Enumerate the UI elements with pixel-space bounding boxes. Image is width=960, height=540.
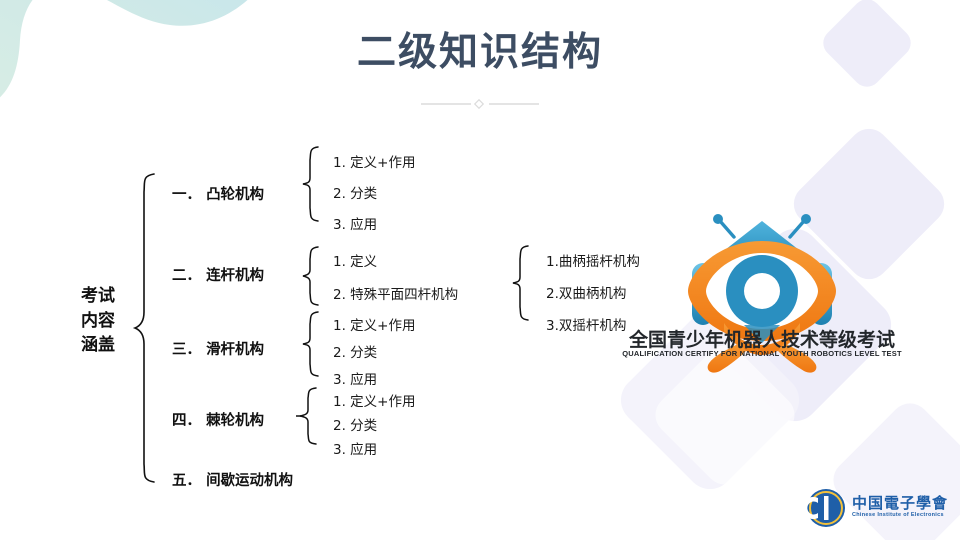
branch-1-label: 一． 凸轮机构 [172,183,264,204]
branch-3-label: 三． 滑杆机构 [172,338,264,359]
branch-4-child-1: 1. 定义+作用 [333,390,415,410]
page-title-container: 二级知识结构 [0,32,960,75]
branch-5-index: 五． [172,473,201,489]
root-line-1: 考试 [63,284,133,309]
root-node-label: 考试 内容 涵盖 [63,284,133,358]
branch-2-grandchildren-brace [510,244,532,322]
branch-4-label: 四． 棘轮机构 [172,409,264,430]
branch-3-child-3: 3. 应用 [333,368,415,388]
branch-3-brace [300,310,322,378]
branch-2-child-1: 1. 定义 [333,250,458,270]
branch-4-child-3: 3. 应用 [333,438,415,458]
root-line-2: 内容 [63,309,133,334]
top-left-blob-shape [0,0,270,180]
branch-3-children: 1. 定义+作用 2. 分类 3. 应用 [333,314,415,388]
cie-logo-name-cn: 中国電子學會 [852,492,948,513]
branch-5-title: 间歇运动机构 [206,473,293,489]
branch-1-brace [300,145,322,223]
root-line-3: 涵盖 [63,333,133,358]
cie-logo-name-en: Chinese Institute of Electronics [852,512,944,518]
branch-4-children: 1. 定义+作用 2. 分类 3. 应用 [333,390,415,458]
branch-4-brace [296,386,320,446]
branch-3-child-2: 2. 分类 [333,341,415,361]
branch-2-label: 二． 连杆机构 [172,264,264,285]
branch-1-child-1: 1. 定义+作用 [333,151,415,171]
robot-logo-title-en: QUALIFICATION CERTIFY FOR NATIONAL YOUTH… [612,349,912,358]
branch-1-children: 1. 定义+作用 2. 分类 3. 应用 [333,151,415,233]
root-brace [132,172,158,484]
branch-1-index: 一． [172,187,201,203]
branch-3-title: 滑杆机构 [206,342,264,358]
branch-2-index: 二． [172,268,201,284]
branch-4-title: 棘轮机构 [206,413,264,429]
branch-5-label: 五． 间歇运动机构 [172,469,293,490]
title-divider [421,98,539,110]
branch-3-index: 三． [172,342,201,358]
branch-2-brace [300,245,322,307]
branch-4-index: 四． [172,413,201,429]
branch-2-child-2: 2. 特殊平面四杆机构 [333,283,458,303]
slide-canvas: 二级知识结构 考试 内容 涵盖 一． 凸轮机构 1. 定义+作用 2. 分类 3… [0,0,960,540]
branch-3-child-1: 1. 定义+作用 [333,314,415,334]
branch-1-child-2: 2. 分类 [333,182,415,202]
branch-2-children: 1. 定义 2. 特殊平面四杆机构 [333,250,458,303]
branch-4-child-2: 2. 分类 [333,414,415,434]
branch-1-title: 凸轮机构 [206,187,264,203]
branch-1-child-3: 3. 应用 [333,213,415,233]
page-title: 二级知识结构 [0,32,960,75]
robot-logo-title-cn: 全国青少年机器人技术等级考试 [612,325,912,352]
branch-2-title: 连杆机构 [206,268,264,284]
